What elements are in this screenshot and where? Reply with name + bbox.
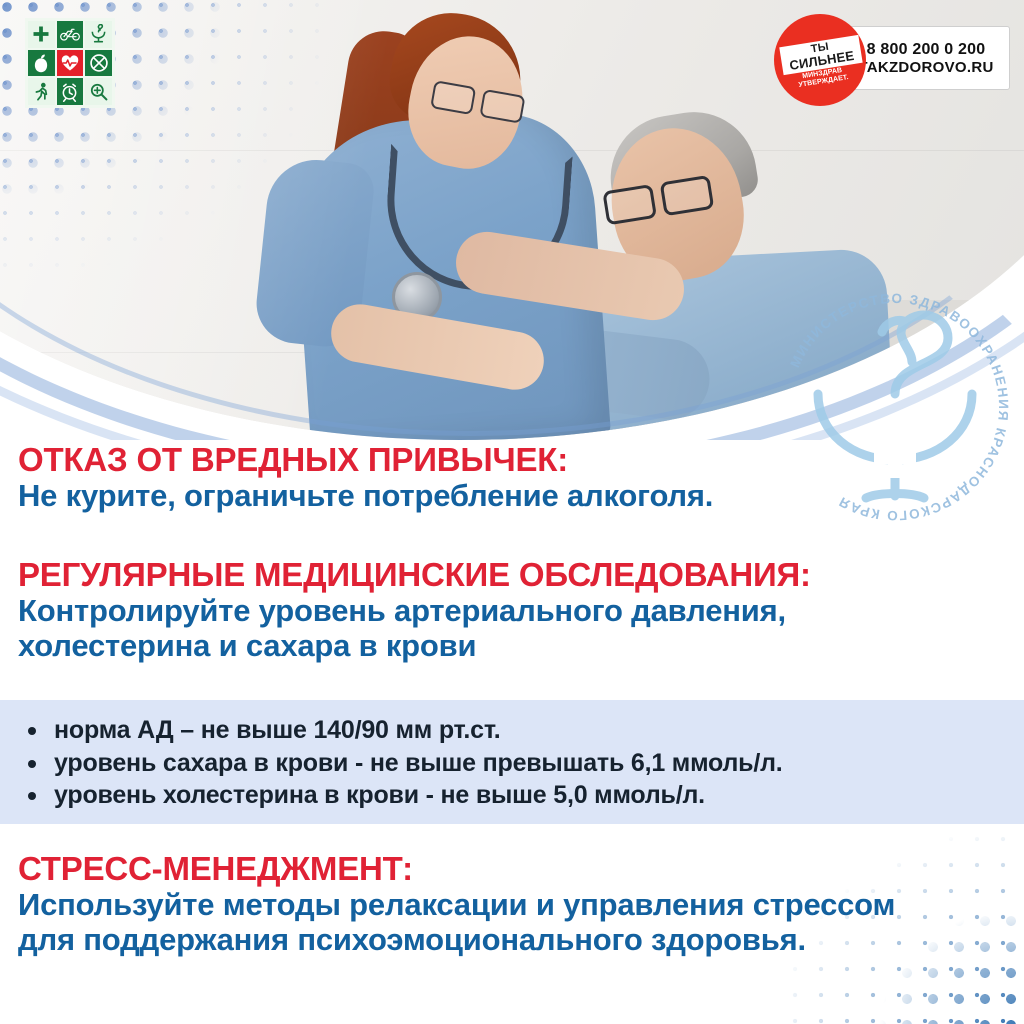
bicycle-icon bbox=[57, 21, 84, 48]
health-poster: 8 800 200 0 200 TAKZDOROVO.RU # ТЫ СИЛЬН… bbox=[0, 0, 1024, 1024]
hotline-phone: 8 800 200 0 200 bbox=[867, 41, 986, 59]
patient-glasses-icon bbox=[602, 175, 715, 222]
brand-lockup: 8 800 200 0 200 TAKZDOROVO.RU # ТЫ СИЛЬН… bbox=[774, 14, 1008, 106]
section-checkups: РЕГУЛЯРНЫЕ МЕДИЦИНСКИЕ ОБСЛЕДОВАНИЯ: Кон… bbox=[18, 558, 811, 664]
website-url[interactable]: TAKZDOROVO.RU bbox=[858, 59, 993, 76]
list-item: уровень сахара в крови - не выше превыша… bbox=[54, 747, 1024, 780]
list-item: уровень холестерина в крови - не выше 5,… bbox=[54, 779, 1024, 812]
running-person-icon bbox=[28, 78, 55, 105]
section-stress-body-line-1: Используйте методы релаксации и управлен… bbox=[18, 887, 895, 922]
section-stress-body: Используйте методы релаксации и управлен… bbox=[18, 887, 895, 958]
contact-panel: 8 800 200 0 200 TAKZDOROVO.RU bbox=[842, 26, 1010, 90]
section-stress: СТРЕСС-МЕНЕДЖМЕНТ: Используйте методы ре… bbox=[18, 852, 895, 958]
patient-torso bbox=[595, 248, 895, 440]
section-checkups-body: Контролируйте уровень артериального давл… bbox=[18, 593, 811, 664]
apple-icon bbox=[28, 50, 55, 77]
magnifier-checkup-icon bbox=[85, 78, 112, 105]
patient-head bbox=[600, 118, 754, 290]
bowl-of-hygieia-icon bbox=[85, 21, 112, 48]
alarm-clock-icon bbox=[57, 78, 84, 105]
norms-band: норма АД – не выше 140/90 мм рт.ст. уров… bbox=[0, 700, 1024, 824]
couch bbox=[600, 300, 1024, 440]
medical-cross-icon bbox=[28, 21, 55, 48]
section-habits-body: Не курите, ограничьте потребление алкого… bbox=[18, 478, 713, 513]
section-habits: ОТКАЗ ОТ ВРЕДНЫХ ПРИВЫЧЕК: Не курите, ог… bbox=[18, 443, 713, 513]
section-checkups-body-line-2: холестерина и сахара в крови bbox=[18, 628, 811, 663]
patient-hair bbox=[602, 103, 761, 217]
norms-list: норма АД – не выше 140/90 мм рт.ст. уров… bbox=[0, 700, 1024, 812]
section-habits-heading: ОТКАЗ ОТ ВРЕДНЫХ ПРИВЫЧЕК: bbox=[18, 443, 713, 478]
list-item: норма АД – не выше 140/90 мм рт.ст. bbox=[54, 714, 1024, 747]
section-habits-body-line-1: Не курите, ограничьте потребление алкого… bbox=[18, 478, 713, 513]
seal-cross-icon bbox=[874, 436, 916, 478]
no-smoking-prohibition-icon bbox=[85, 50, 112, 77]
health-logo bbox=[25, 18, 115, 108]
ty-silnee-badge: # ТЫ СИЛЬНЕЕ МИНЗДРАВ УТВЕРЖДАЕТ. bbox=[774, 14, 866, 106]
section-checkups-body-line-1: Контролируйте уровень артериального давл… bbox=[18, 593, 811, 628]
section-stress-body-line-2: для поддержания психоэмоционального здор… bbox=[18, 922, 895, 957]
heart-pulse-icon bbox=[57, 50, 84, 77]
section-checkups-heading: РЕГУЛЯРНЫЕ МЕДИЦИНСКИЕ ОБСЛЕДОВАНИЯ: bbox=[18, 558, 811, 593]
section-stress-heading: СТРЕСС-МЕНЕДЖМЕНТ: bbox=[18, 852, 895, 887]
